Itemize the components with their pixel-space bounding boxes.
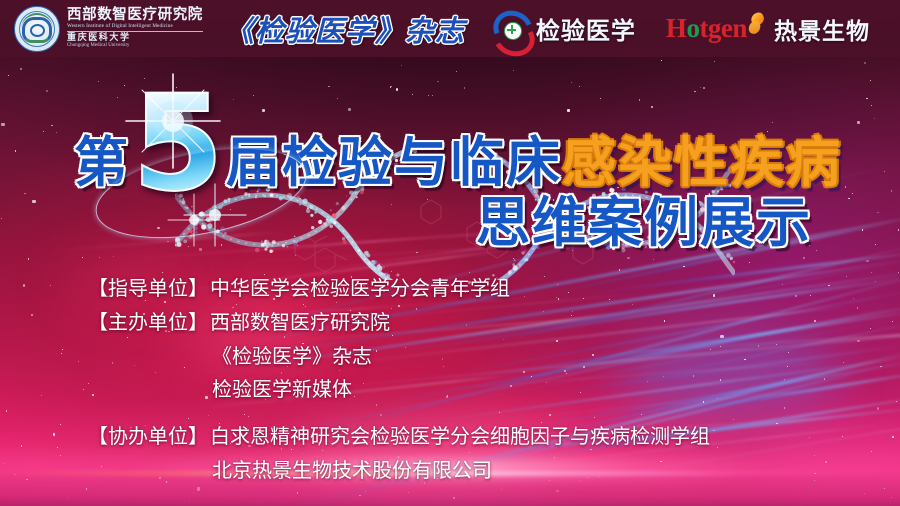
info-row-coorganizer: 【协办单位】 白求恩精神研究会检验医学分会细胞因子与疾病检测学组 <box>0 420 900 454</box>
institute-crest-icon <box>14 6 60 52</box>
info-row-coorganizer-2: 北京热景生物技术股份有限公司 <box>0 454 900 487</box>
info-label-guidance: 【指导单位】 <box>0 272 208 301</box>
info-row-host-2: 《检验医学》杂志 <box>0 340 900 373</box>
info-label-coorganizer: 【协办单位】 <box>0 420 208 449</box>
info-row-host-3: 检验医学新媒体 <box>0 373 900 406</box>
logo-hotgen: Hotgen 热景生物 <box>666 6 870 52</box>
info-value-host-2: 检验医学新媒体 <box>212 373 352 402</box>
title-line2: 思维案例展示 <box>476 178 812 257</box>
info-value-coorganizer-0: 白求恩精神研究会检验医学分会细胞因子与疾病检测学组 <box>210 420 710 449</box>
sponsor-logo-bar: 西部数智医疗研究院 Western Institute of Digital I… <box>0 0 900 57</box>
organizer-info-block: 【指导单位】 中华医学会检验医学分会青年学组 【主办单位】 西部数智医疗研究院 … <box>0 272 900 487</box>
info-value-guidance-0: 中华医学会检验医学分会青年学组 <box>210 272 510 301</box>
logo-western-institute: 西部数智医疗研究院 Western Institute of Digital I… <box>14 6 203 52</box>
institute-name-cn: 西部数智医疗研究院 <box>67 8 203 23</box>
info-value-coorganizer-1: 北京热景生物技术股份有限公司 <box>212 454 492 483</box>
institute-affil-cn: 重庆医科大学 <box>67 34 203 43</box>
info-label-host: 【主办单位】 <box>0 306 208 335</box>
lab-medicine-swoosh-icon <box>491 10 529 48</box>
institute-affil-en: Chongqing Medical University <box>67 44 203 49</box>
journal-title-text: 《检验医学》杂志 <box>225 8 465 50</box>
hotgen-name-cn: 热景生物 <box>774 12 870 46</box>
info-row-guidance: 【指导单位】 中华医学会检验医学分会青年学组 <box>0 272 900 306</box>
divider <box>67 31 203 32</box>
hotgen-wordmark: Hotgen <box>666 15 747 42</box>
conference-poster: 西部数智医疗研究院 Western Institute of Digital I… <box>0 0 900 506</box>
info-row-host: 【主办单位】 西部数智医疗研究院 <box>0 306 900 340</box>
hotgen-letter-h: H <box>666 13 687 43</box>
info-value-host-1: 《检验医学》杂志 <box>212 340 372 369</box>
logo-lab-medicine: 检验医学 <box>491 6 636 52</box>
hotgen-letters-rest: tgen <box>699 13 747 43</box>
institute-name-en: Western Institute of Digital Intelligent… <box>67 24 203 29</box>
butterfly-icon <box>748 13 768 35</box>
hotgen-letter-o: o <box>686 13 699 43</box>
lab-medicine-text: 检验医学 <box>536 11 636 46</box>
logo-journal: 《检验医学》杂志 <box>225 6 465 52</box>
info-value-host-0: 西部数智医疗研究院 <box>210 306 390 335</box>
